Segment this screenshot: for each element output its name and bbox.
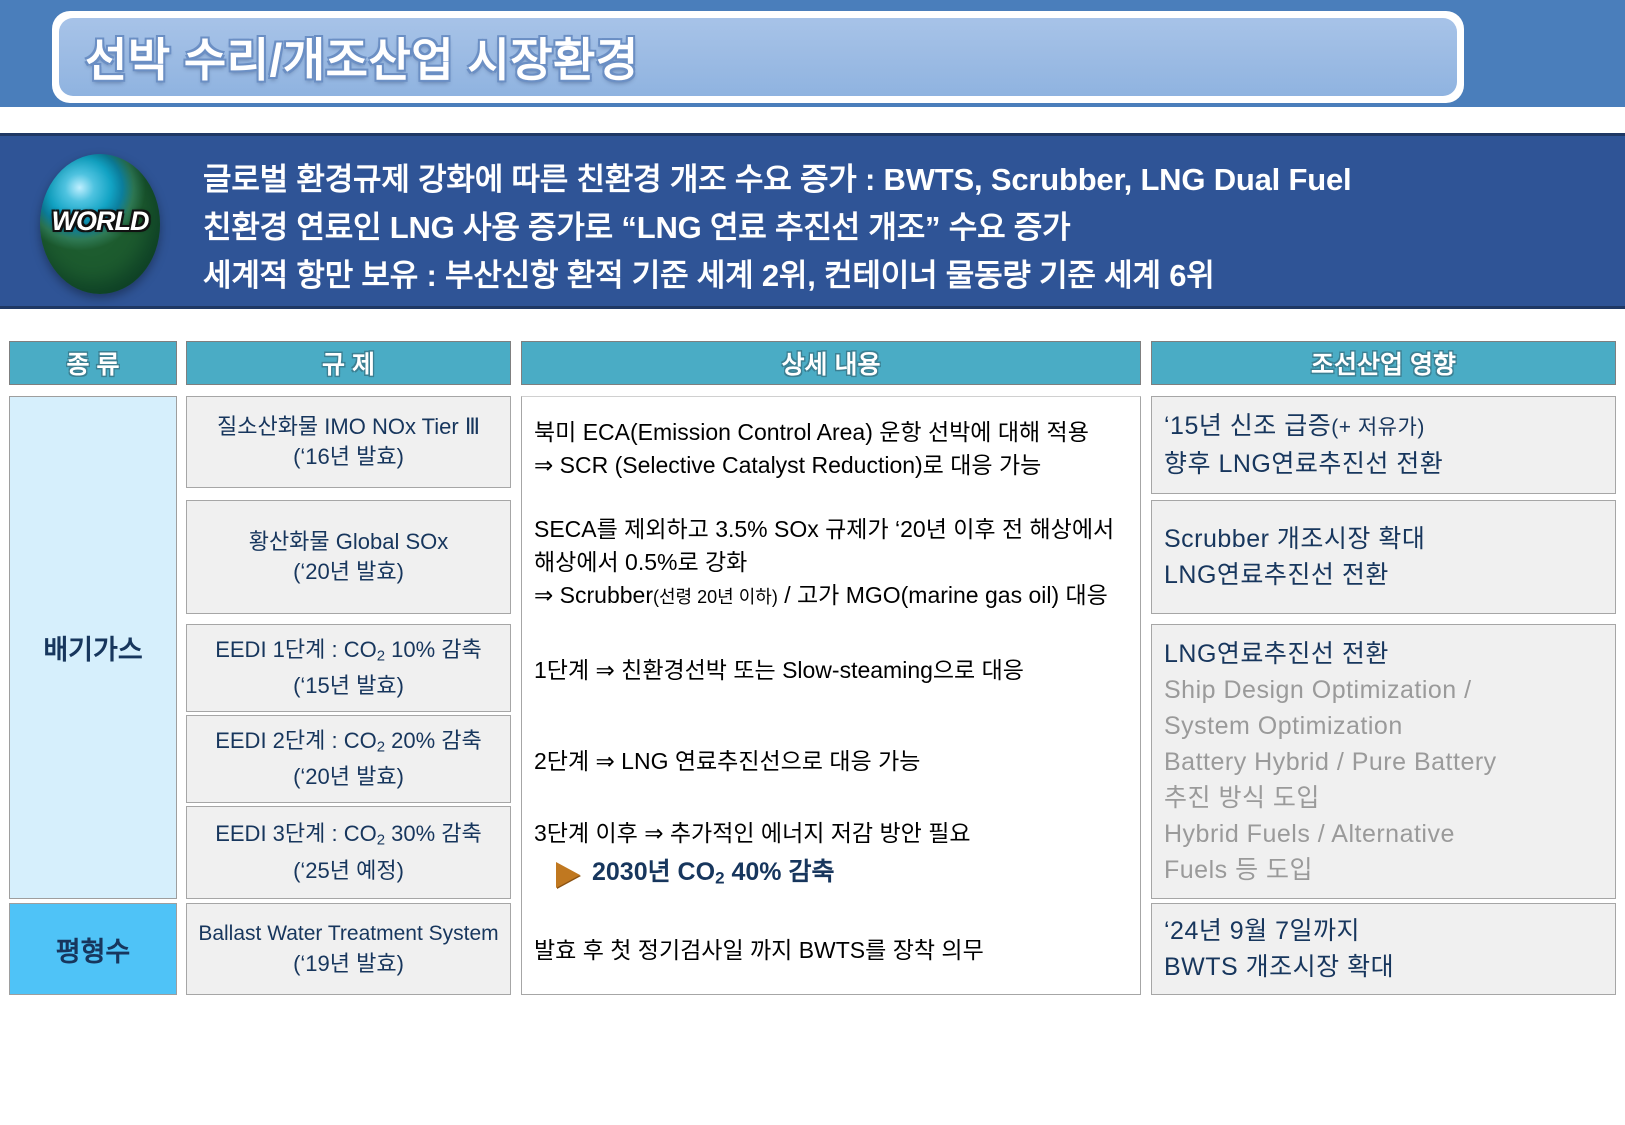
impact-primary-line: LNG연료추진선 전환 — [1164, 636, 1603, 672]
detail-cell-nox: 북미 ECA(Emission Control Area) 운항 선박에 대해 … — [522, 397, 1140, 501]
detail-column: 북미 ECA(Emission Control Area) 운항 선박에 대해 … — [521, 396, 1141, 995]
regulation-line-1: 질소산화물 IMO NOx Tier Ⅲ — [217, 412, 480, 442]
regulation-line-2: (‘16년 발효) — [293, 442, 404, 472]
table-header-impact: 조선산업 영향 — [1151, 341, 1616, 385]
regulation-cell-bwts: Ballast Water Treatment System (‘19년 발효) — [186, 903, 511, 995]
detail-cell-eedi-phase2: 2단계 ⇒ LNG 연료추진선으로 대응 가능 — [522, 716, 1140, 807]
type-cell-ballast-water: 평형수 — [9, 903, 177, 995]
detail-line-1: 북미 ECA(Emission Control Area) 운항 선박에 대해 … — [534, 416, 1130, 449]
detail-line-2: ⇒ SCR (Selective Catalyst Reduction)로 대응… — [534, 449, 1130, 482]
impact-line-1: ‘15년 신조 급증(+ 저유가) — [1164, 408, 1603, 446]
detail-highlight-text: 2030년 CO2 40% 감축 — [592, 856, 834, 895]
regulation-cell-eedi-phase3: EEDI 3단계 : CO2 30% 감축 (‘25년 예정) — [186, 806, 511, 899]
impact-secondary-line: Battery Hybrid / Pure Battery — [1164, 744, 1603, 780]
impact-secondary-line: Ship Design Optimization / — [1164, 672, 1603, 708]
detail-line-1: 발효 후 첫 정기검사일 까지 BWTS를 장착 의무 — [534, 934, 1130, 967]
regulation-line-2: (‘25년 예정) — [293, 856, 404, 886]
regulation-cell-eedi-phase2: EEDI 2단계 : CO2 20% 감축 (‘20년 발효) — [186, 715, 511, 803]
impact-secondary-line: Fuels 등 도입 — [1164, 852, 1603, 888]
type-cell-exhaust-gas: 배기가스 — [9, 396, 177, 899]
detail-cell-eedi-phase1: 1단계 ⇒ 친환경선박 또는 Slow-steaming으로 대응 — [522, 625, 1140, 716]
orange-arrow-icon — [556, 862, 580, 888]
regulation-table: 종 류 규 제 상세 내용 조선산업 영향 배기가스 평형수 질소산화물 IMO… — [0, 0, 1625, 1125]
regulation-line-2: (‘15년 발효) — [293, 671, 404, 701]
regulation-line-1: EEDI 2단계 : CO2 20% 감축 — [215, 726, 482, 762]
regulation-cell-sox: 황산화물 Global SOx (‘20년 발효) — [186, 500, 511, 614]
detail-cell-bwts: 발효 후 첫 정기검사일 까지 BWTS를 장착 의무 — [522, 904, 1140, 996]
impact-line-1: Scrubber 개조시장 확대 — [1164, 521, 1603, 557]
detail-line-3: ⇒ Scrubber(선령 20년 이하) / 고가 MGO(marine ga… — [534, 579, 1130, 614]
impact-line-1: ‘24년 9월 7일까지 — [1164, 913, 1603, 949]
impact-cell-eedi: LNG연료추진선 전환 Ship Design Optimization / S… — [1151, 624, 1616, 899]
impact-secondary-line: 추진 방식 도입 — [1164, 780, 1603, 816]
regulation-line-2: (‘19년 발효) — [293, 949, 404, 979]
table-header-regulation: 규 제 — [186, 341, 511, 385]
detail-line-1: 1단계 ⇒ 친환경선박 또는 Slow-steaming으로 대응 — [534, 654, 1130, 687]
impact-line-2: 향후 LNG연료추진선 전환 — [1164, 446, 1603, 482]
table-header-detail: 상세 내용 — [521, 341, 1141, 385]
impact-cell-nox: ‘15년 신조 급증(+ 저유가) 향후 LNG연료추진선 전환 — [1151, 396, 1616, 494]
impact-secondary-line: System Optimization — [1164, 708, 1603, 744]
detail-line-1: 3단계 이후 ⇒ 추가적인 에너지 저감 방안 필요 — [534, 817, 1130, 850]
regulation-cell-nox: 질소산화물 IMO NOx Tier Ⅲ (‘16년 발효) — [186, 396, 511, 488]
regulation-line-1: EEDI 3단계 : CO2 30% 감축 — [215, 819, 482, 855]
detail-line-1: 2단계 ⇒ LNG 연료추진선으로 대응 가능 — [534, 745, 1130, 778]
detail-highlight: 2030년 CO2 40% 감축 — [556, 856, 1130, 895]
impact-line-2: BWTS 개조시장 확대 — [1164, 949, 1603, 985]
detail-cell-sox: SECA를 제외하고 3.5% SOx 규제가 ‘20년 이후 전 해상에서 해… — [522, 501, 1140, 625]
detail-line-2: 해상에서 0.5%로 강화 — [534, 546, 1130, 579]
impact-line-2: LNG연료추진선 전환 — [1164, 557, 1603, 593]
regulation-line-1: Ballast Water Treatment System — [198, 919, 498, 949]
impact-secondary-line: Hybrid Fuels / Alternative — [1164, 816, 1603, 852]
detail-cell-eedi-phase3: 3단계 이후 ⇒ 추가적인 에너지 저감 방안 필요 2030년 CO2 40%… — [522, 807, 1140, 904]
table-header-type: 종 류 — [9, 341, 177, 385]
detail-line-1: SECA를 제외하고 3.5% SOx 규제가 ‘20년 이후 전 해상에서 — [534, 513, 1130, 546]
impact-cell-bwts: ‘24년 9월 7일까지 BWTS 개조시장 확대 — [1151, 903, 1616, 995]
regulation-line-1: EEDI 1단계 : CO2 10% 감축 — [215, 635, 482, 671]
impact-cell-sox: Scrubber 개조시장 확대 LNG연료추진선 전환 — [1151, 500, 1616, 614]
regulation-line-1: 황산화물 Global SOx — [249, 527, 449, 557]
regulation-cell-eedi-phase1: EEDI 1단계 : CO2 10% 감축 (‘15년 발효) — [186, 624, 511, 712]
regulation-line-2: (‘20년 발효) — [293, 762, 404, 792]
regulation-line-2: (‘20년 발효) — [293, 557, 404, 587]
